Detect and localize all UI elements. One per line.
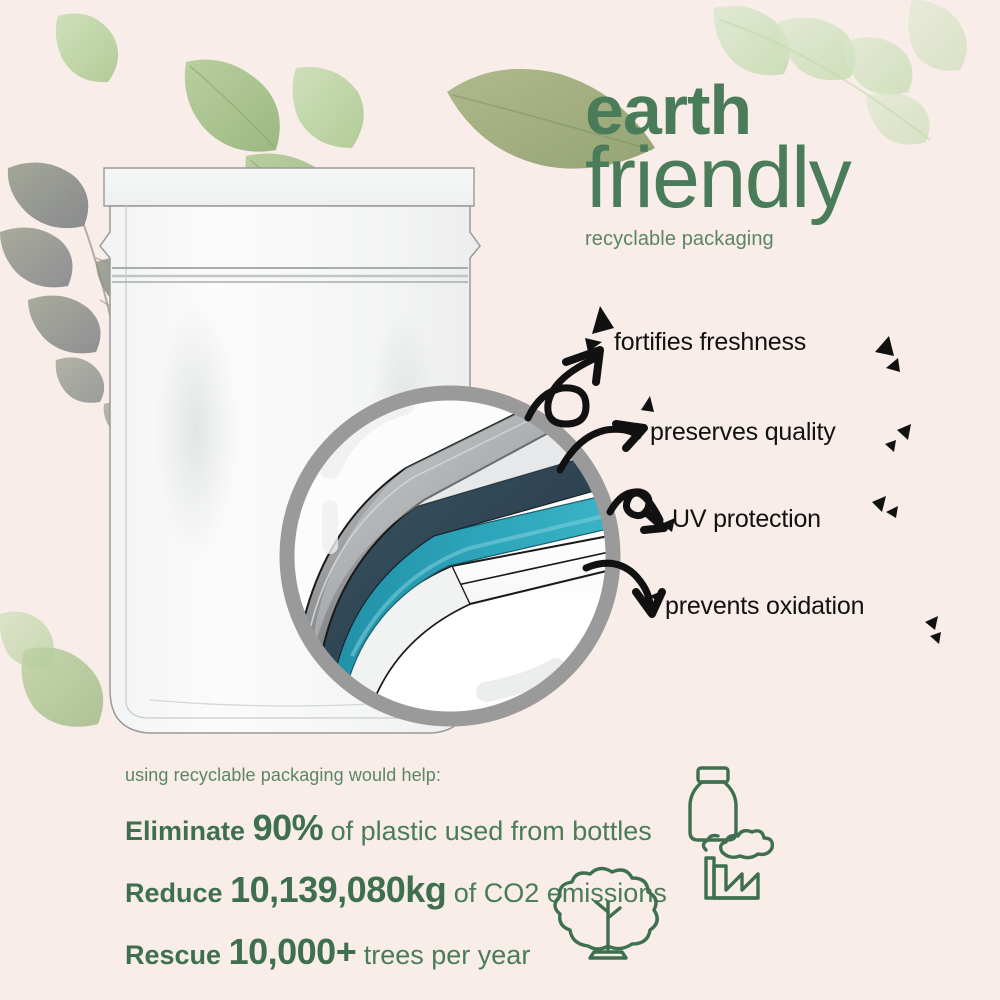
poster-canvas: earth friendly recyclable packaging fort… [0, 0, 1000, 1000]
tree-icon [555, 868, 657, 958]
stat-icons [0, 0, 1000, 1000]
bottle-icon [690, 768, 736, 840]
